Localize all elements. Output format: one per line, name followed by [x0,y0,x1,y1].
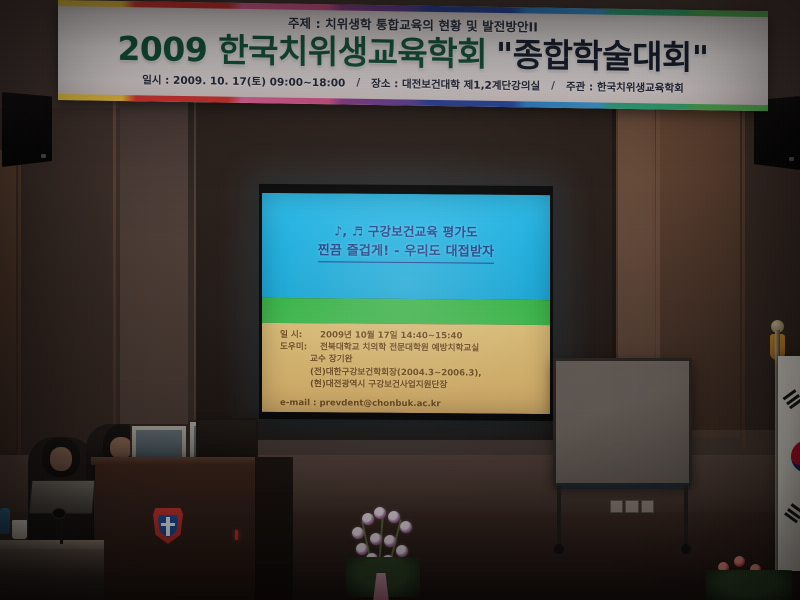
speaker-badge-icon [789,157,794,161]
projection-screen: ♪, ♬ 구강보건교육 평가도 찐끔 즐겁게! - 우리도 대접받자 일 시:2… [259,184,553,421]
water-bottle [0,508,10,534]
slide-title: ♪, ♬ 구강보건교육 평가도 찐끔 즐겁게! - 우리도 대접받자 [262,223,550,264]
orchid-bloom [370,533,382,545]
slide-date-value: 2009년 10월 17일 14:40~15:40 [320,330,462,341]
speaker-badge-icon [41,154,46,158]
rolling-whiteboard [553,358,692,490]
whiteboard-caster [681,544,691,554]
outlet-socket [625,500,638,513]
trigram-gon-icon [783,503,800,525]
banner-title-quoted: "종합학술대회" [496,38,709,74]
red-bloom [734,556,745,567]
banner-separator: / [356,77,360,89]
slide-body: 일 시:2009년 10월 17일 14:40~15:40 도우미:전북대학교 … [280,329,540,411]
slide-presenter-label: 도우미: [280,341,320,354]
banner-info-line: 일시 : 2009. 10. 17(토) 09:00~18:00 / 장소 : … [142,72,684,96]
orchid-bloom [384,535,396,547]
slide-row-email: e-mail : prevdent@chonbuk.ac.kr [280,397,540,411]
crest-cross-horizontal [161,523,175,526]
orchid-bloom [362,513,374,525]
whiteboard-leg [557,486,561,546]
orchid-bloom [400,521,412,533]
flag-cloth [778,356,800,571]
outlet-socket [641,500,654,513]
lectern-indicator-light [235,530,238,540]
ceiling-speaker-left [2,92,52,167]
orchid-bloom [352,527,364,539]
slide-presenter-affiliation: 전북대학교 치의학 전문대학원 예방치학교실 [320,343,479,354]
microphone-stand [48,508,76,544]
wooden-lectern [95,462,255,600]
person-head [42,437,80,477]
flower-foliage [706,570,792,600]
presentation-slide: ♪, ♬ 구강보건교육 평가도 찐끔 즐겁게! - 우리도 대접받자 일 시:2… [262,193,550,414]
wall-panel-warm [0,150,16,450]
wall-seam [188,100,194,460]
slide-band-green [262,298,550,325]
orchid-bloom [374,507,386,519]
whiteboard-marker-tray [555,484,690,489]
banner-separator: / [551,80,555,92]
slide-title-line2: 찐끔 즐겁게! - 우리도 대접받자 [318,243,495,263]
whiteboard-leg [684,486,688,546]
trigram-geon-icon [783,389,800,411]
operator-desk [0,540,104,600]
banner-datetime: 일시 : 2009. 10. 17(토) 09:00~18:00 [142,72,345,90]
conference-hall-photo: 주제 : 치위생학 통합교육의 현황 및 발전방안II 2009 한국치위생교육… [0,0,800,600]
banner-venue: 장소 : 대전보건대학 제1,2계단강의실 [371,76,540,94]
microphone-icon [52,508,66,519]
wall-seam [113,100,116,460]
person-face [110,437,132,459]
event-banner: 주제 : 치위생학 통합교육의 현황 및 발전방안II 2009 한국치위생교육… [58,0,768,111]
crest-cross-vertical [166,517,170,536]
outlet-socket [610,500,623,513]
orchid-bloom [396,545,408,557]
banner-main-title: 2009 한국치위생교육학회 "종합학술대회" [117,32,708,74]
orchid-bloom [356,543,368,555]
slide-row-current-role: (현)대전광역시 구강보건사업지원단장 [280,378,540,392]
shield-crest-icon [153,508,183,544]
paper-cup [12,520,27,539]
banner-content: 주제 : 치위생학 통합교육의 현황 및 발전방안II 2009 한국치위생교육… [58,6,768,105]
lectern-top-edge [91,457,259,465]
whiteboard-caster [554,544,564,554]
banner-host: 주관 : 한국치위생교육학회 [566,79,684,96]
orchid-bloom [388,511,400,523]
taeguk-symbol-icon [791,440,800,473]
flower-arrangement-right [700,552,800,600]
slide-date-label: 일 시: [280,329,320,342]
lectern-side-panel [255,457,293,600]
person-face [50,447,72,471]
wall-outlet [610,500,654,513]
banner-title-organization: 2009 한국치위생교육학회 [117,32,487,71]
slide-title-line1: ♪, ♬ 구강보건교육 평가도 [262,223,550,241]
orchid-arrangement [330,505,440,600]
wall-seam [742,100,745,450]
whiteboard-surface [553,358,692,486]
